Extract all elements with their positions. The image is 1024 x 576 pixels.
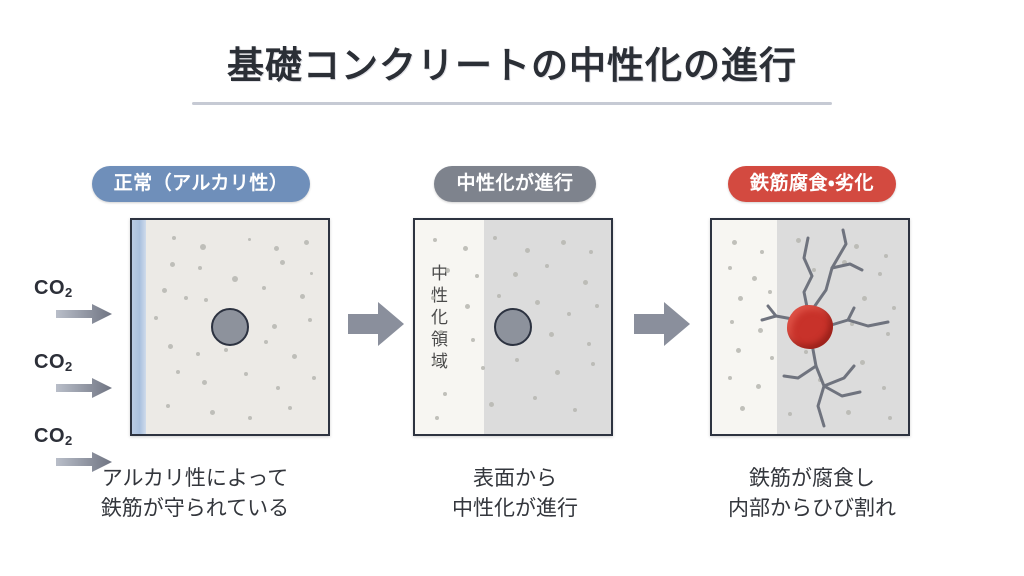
stage-badge-damage: 鉄筋腐食・劣化 bbox=[728, 166, 896, 202]
neutralized-zone-label: 中性化領域 bbox=[429, 264, 446, 374]
co2-label-1: CO2 bbox=[34, 278, 126, 298]
stage-badge-row-1: 正常（アルカリ性） bbox=[30, 160, 330, 208]
stage-caption-3: 鉄筋が腐食し 内部からひび割れ bbox=[662, 464, 962, 525]
stage-caption-2-line2: 中性化が進行 bbox=[365, 494, 665, 524]
co2-arrow-icon-1 bbox=[56, 304, 112, 324]
stage-illustration-1: CO2 CO2 CO2 bbox=[30, 218, 330, 448]
stage-caption-2: 表面から 中性化が進行 bbox=[365, 464, 665, 525]
alkaline-surface-layer bbox=[132, 220, 146, 434]
co2-inflow-3: CO2 bbox=[34, 426, 126, 477]
concrete-block-progress: 中性化領域 bbox=[413, 218, 613, 436]
stage-illustration-3 bbox=[662, 218, 962, 448]
stage-badge-progress: 中性化が進行 bbox=[434, 166, 595, 202]
concrete-block-normal bbox=[130, 218, 330, 436]
neutralized-zone bbox=[415, 220, 484, 434]
title-divider bbox=[192, 102, 832, 105]
stage-badge-row-2: 中性化が進行 bbox=[365, 160, 665, 208]
stage-caption-3-line1: 鉄筋が腐食し bbox=[662, 464, 962, 494]
stage-badge-normal: 正常（アルカリ性） bbox=[92, 166, 311, 202]
rebar-icon-normal bbox=[211, 308, 249, 346]
stage-panel-progress: 中性化が進行 中性化領域 bbox=[365, 160, 665, 525]
page-header: 基礎コンクリートの中性化の進行 bbox=[0, 44, 1024, 105]
process-diagram: 正常（アルカリ性） CO2 CO2 bbox=[0, 160, 1024, 560]
stage-panel-normal: 正常（アルカリ性） CO2 CO2 bbox=[30, 160, 330, 525]
co2-inflow-2: CO2 bbox=[34, 352, 126, 403]
stage-badge-row-3: 鉄筋腐食・劣化 bbox=[662, 160, 962, 208]
corroded-rebar-icon bbox=[787, 305, 833, 349]
rebar-icon-progress bbox=[494, 308, 532, 346]
stage-panel-damage: 鉄筋腐食・劣化 bbox=[662, 160, 962, 525]
stage-caption-3-line2: 内部からひび割れ bbox=[662, 494, 962, 524]
co2-inflow-1: CO2 bbox=[34, 278, 126, 329]
concrete-block-damage bbox=[710, 218, 910, 436]
page-title: 基礎コンクリートの中性化の進行 bbox=[0, 44, 1024, 88]
stage-caption-2-line1: 表面から bbox=[365, 464, 665, 494]
co2-inflow-group: CO2 CO2 CO2 bbox=[30, 274, 126, 504]
co2-label-3: CO2 bbox=[34, 426, 126, 446]
co2-label-2: CO2 bbox=[34, 352, 126, 372]
stage-illustration-2: 中性化領域 bbox=[365, 218, 665, 448]
co2-arrow-icon-3 bbox=[56, 452, 112, 472]
co2-arrow-icon-2 bbox=[56, 378, 112, 398]
